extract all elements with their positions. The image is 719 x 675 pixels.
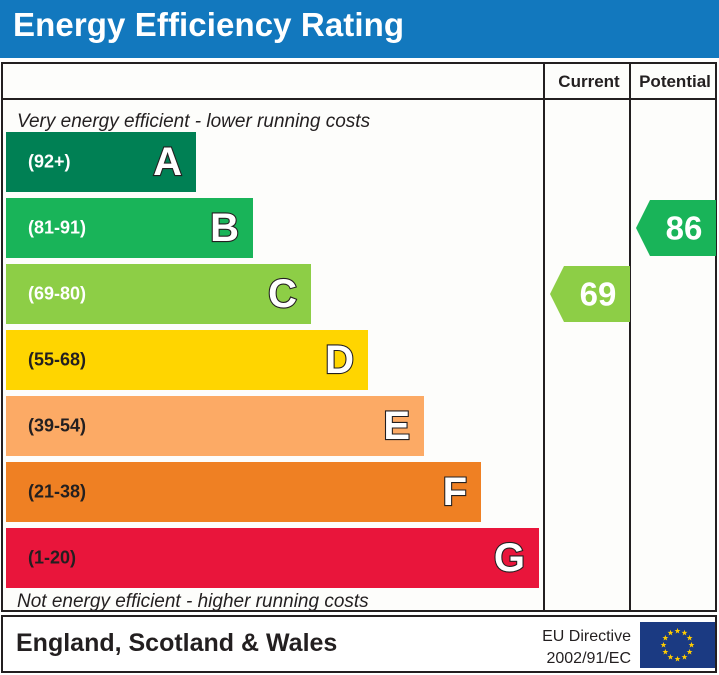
epc-certificate: Energy Efficiency Rating Current Potenti…: [0, 0, 719, 675]
band-range-b: (81-91): [28, 218, 86, 239]
column-header-current: Current: [547, 72, 631, 92]
eu-flag-stars: [640, 622, 715, 668]
energy-band-e: (39-54)E: [6, 396, 424, 456]
energy-band-b: (81-91)B: [6, 198, 253, 258]
band-letter-g: G: [494, 538, 525, 578]
band-letter-b: B: [210, 208, 239, 248]
footer-region-label: England, Scotland & Wales: [16, 629, 337, 658]
band-letter-a: A: [153, 142, 182, 182]
directive-line-1: EU Directive: [503, 626, 631, 648]
footer-bar: England, Scotland & Wales EU Directive 2…: [1, 615, 717, 673]
energy-band-f: (21-38)F: [6, 462, 481, 522]
energy-band-c: (69-80)C: [6, 264, 311, 324]
directive-line-2: 2002/91/EC: [503, 648, 631, 670]
potential-rating-value: 86: [652, 212, 716, 245]
energy-band-g: (1-20)G: [6, 528, 539, 588]
band-range-d: (55-68): [28, 350, 86, 371]
band-range-f: (21-38): [28, 482, 86, 503]
band-range-g: (1-20): [28, 548, 76, 569]
energy-band-a: (92+)A: [6, 132, 196, 192]
potential-rating-arrow: 86: [636, 200, 716, 256]
rating-table: Current Potential Very energy efficient …: [1, 62, 717, 612]
current-rating-arrow: 69: [550, 266, 630, 322]
band-letter-f: F: [443, 472, 467, 512]
energy-band-d: (55-68)D: [6, 330, 368, 390]
band-letter-c: C: [268, 274, 297, 314]
footer-directive: EU Directive 2002/91/EC: [503, 626, 631, 669]
band-letter-e: E: [383, 406, 410, 446]
title-bar: Energy Efficiency Rating: [0, 0, 719, 58]
column-header-row: Current Potential: [3, 64, 715, 100]
column-divider-potential: [629, 64, 631, 610]
caption-not-efficient: Not energy efficient - higher running co…: [17, 591, 369, 613]
band-range-c: (69-80): [28, 284, 86, 305]
current-rating-value: 69: [566, 278, 630, 311]
column-divider-current: [543, 64, 545, 610]
page-title: Energy Efficiency Rating: [13, 6, 404, 44]
band-range-a: (92+): [28, 152, 71, 173]
band-letter-d: D: [325, 340, 354, 380]
band-range-e: (39-54): [28, 416, 86, 437]
column-header-potential: Potential: [633, 72, 717, 92]
caption-very-efficient: Very energy efficient - lower running co…: [17, 111, 370, 133]
eu-flag-icon: [640, 622, 715, 668]
